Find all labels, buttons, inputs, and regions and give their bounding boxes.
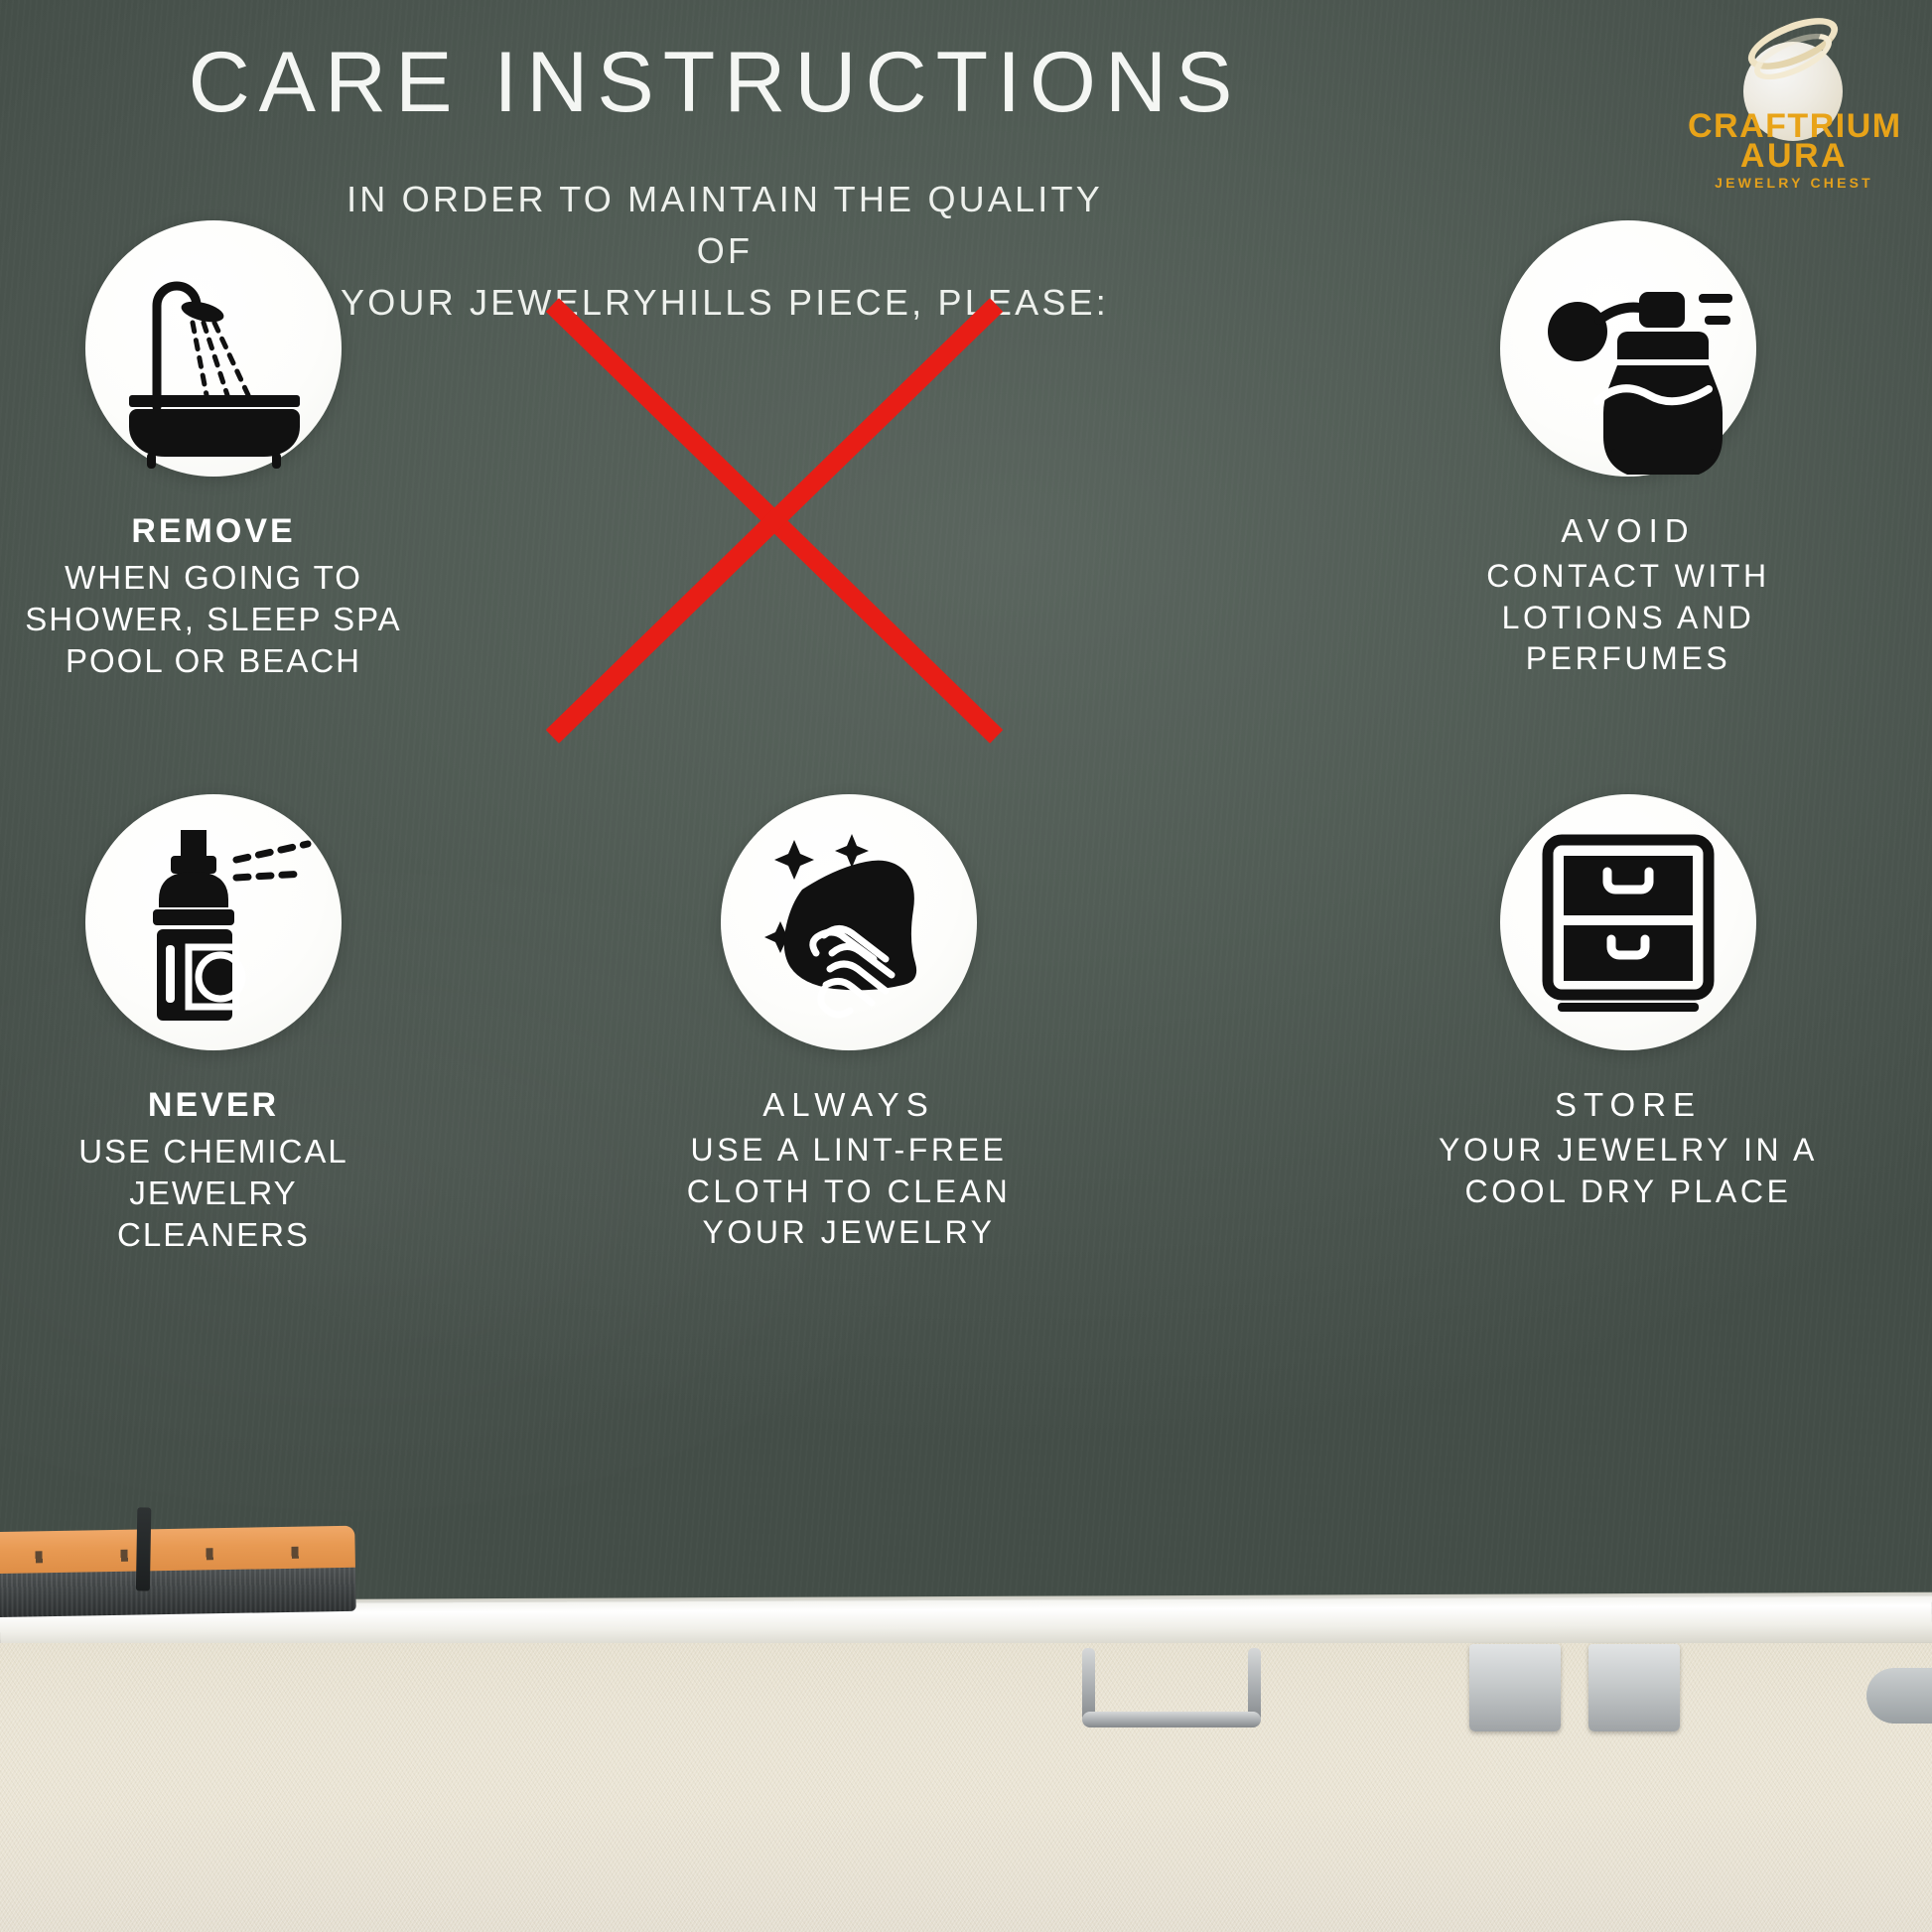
cabinet-handle — [1082, 1648, 1261, 1727]
icon-disc-shower — [85, 220, 342, 477]
caption-line-2: JEWELRY — [5, 1173, 422, 1214]
caption-line-2: SHOWER, SLEEP SPA — [5, 599, 422, 640]
caption-line-3: CLEANERS — [5, 1214, 422, 1256]
caption-line-2: COOL DRY PLACE — [1420, 1172, 1837, 1213]
bathtub-shower-icon — [85, 220, 342, 477]
caption-lead: STORE — [1420, 1086, 1837, 1124]
handle-bar — [1082, 1712, 1261, 1727]
caption-lead: AVOID — [1420, 512, 1837, 550]
caption-line-3: YOUR JEWELRY — [640, 1212, 1057, 1254]
caption-lead: REMOVE — [5, 512, 422, 551]
caption-line-1: USE A LINT-FREE — [640, 1130, 1057, 1172]
logo-tagline: JEWELRY CHEST — [1688, 175, 1900, 191]
eraser-felt — [0, 1568, 356, 1617]
caption-line-3: PERFUMES — [1420, 638, 1837, 680]
caption-line-1: USE CHEMICAL — [5, 1131, 422, 1173]
caption-perfume: AVOID CONTACT WITH LOTIONS AND PERFUMES — [1420, 512, 1837, 680]
brand-logo[interactable]: CRAFTRIUM AURA JEWELRY CHEST — [1688, 18, 1900, 197]
icon-disc-perfume — [1500, 220, 1756, 477]
care-instructions-poster: CARE INSTRUCTIONS IN ORDER TO MAINTAIN T… — [0, 0, 1932, 1932]
metal-clip-2 — [1588, 1644, 1680, 1731]
spray-can-icon — [85, 794, 342, 1050]
handle-right-arm — [1248, 1648, 1261, 1722]
caption-cloth: ALWAYS USE A LINT-FREE CLOTH TO CLEAN YO… — [640, 1086, 1057, 1254]
polishing-cloth-hand-icon — [721, 794, 977, 1050]
caption-line-3: POOL OR BEACH — [5, 640, 422, 682]
caption-store: STORE YOUR JEWELRY IN A COOL DRY PLACE — [1420, 1086, 1837, 1212]
caption-line-2: CLOTH TO CLEAN — [640, 1172, 1057, 1213]
caption-lead: NEVER — [5, 1086, 422, 1125]
caption-line-1: YOUR JEWELRY IN A — [1420, 1130, 1837, 1172]
care-card-perfume: AVOID CONTACT WITH LOTIONS AND PERFUMES — [1420, 220, 1837, 680]
caption-shower: REMOVE WHEN GOING TO SHOWER, SLEEP SPA P… — [5, 512, 422, 682]
drawer-cabinet-icon — [1500, 794, 1756, 1050]
caption-lead: ALWAYS — [640, 1086, 1057, 1124]
logo-name-line-2: AURA — [1688, 139, 1900, 174]
care-card-cloth: ALWAYS USE A LINT-FREE CLOTH TO CLEAN YO… — [640, 794, 1057, 1254]
metal-clip-1 — [1469, 1644, 1561, 1731]
icon-disc-spray-can — [85, 794, 342, 1050]
perfume-bottle-icon — [1500, 220, 1756, 477]
handle-left-arm — [1082, 1648, 1095, 1722]
eraser-clip — [136, 1507, 151, 1590]
chalkboard-eraser — [0, 1526, 356, 1617]
red-x-cross-icon — [486, 243, 1062, 799]
caption-line-1: CONTACT WITH — [1420, 556, 1837, 598]
caption-chemicals: NEVER USE CHEMICAL JEWELRY CLEANERS — [5, 1086, 422, 1256]
icon-disc-cloth — [721, 794, 977, 1050]
caption-line-1: WHEN GOING TO — [5, 557, 422, 599]
care-card-chemicals: NEVER USE CHEMICAL JEWELRY CLEANERS — [5, 794, 422, 1256]
metal-clip-3 — [1866, 1668, 1932, 1724]
icon-disc-drawer — [1500, 794, 1756, 1050]
care-card-store: STORE YOUR JEWELRY IN A COOL DRY PLACE — [1420, 794, 1837, 1212]
caption-line-2: LOTIONS AND — [1420, 598, 1837, 639]
page-title: CARE INSTRUCTIONS — [0, 40, 1430, 125]
care-card-shower: REMOVE WHEN GOING TO SHOWER, SLEEP SPA P… — [5, 220, 422, 682]
